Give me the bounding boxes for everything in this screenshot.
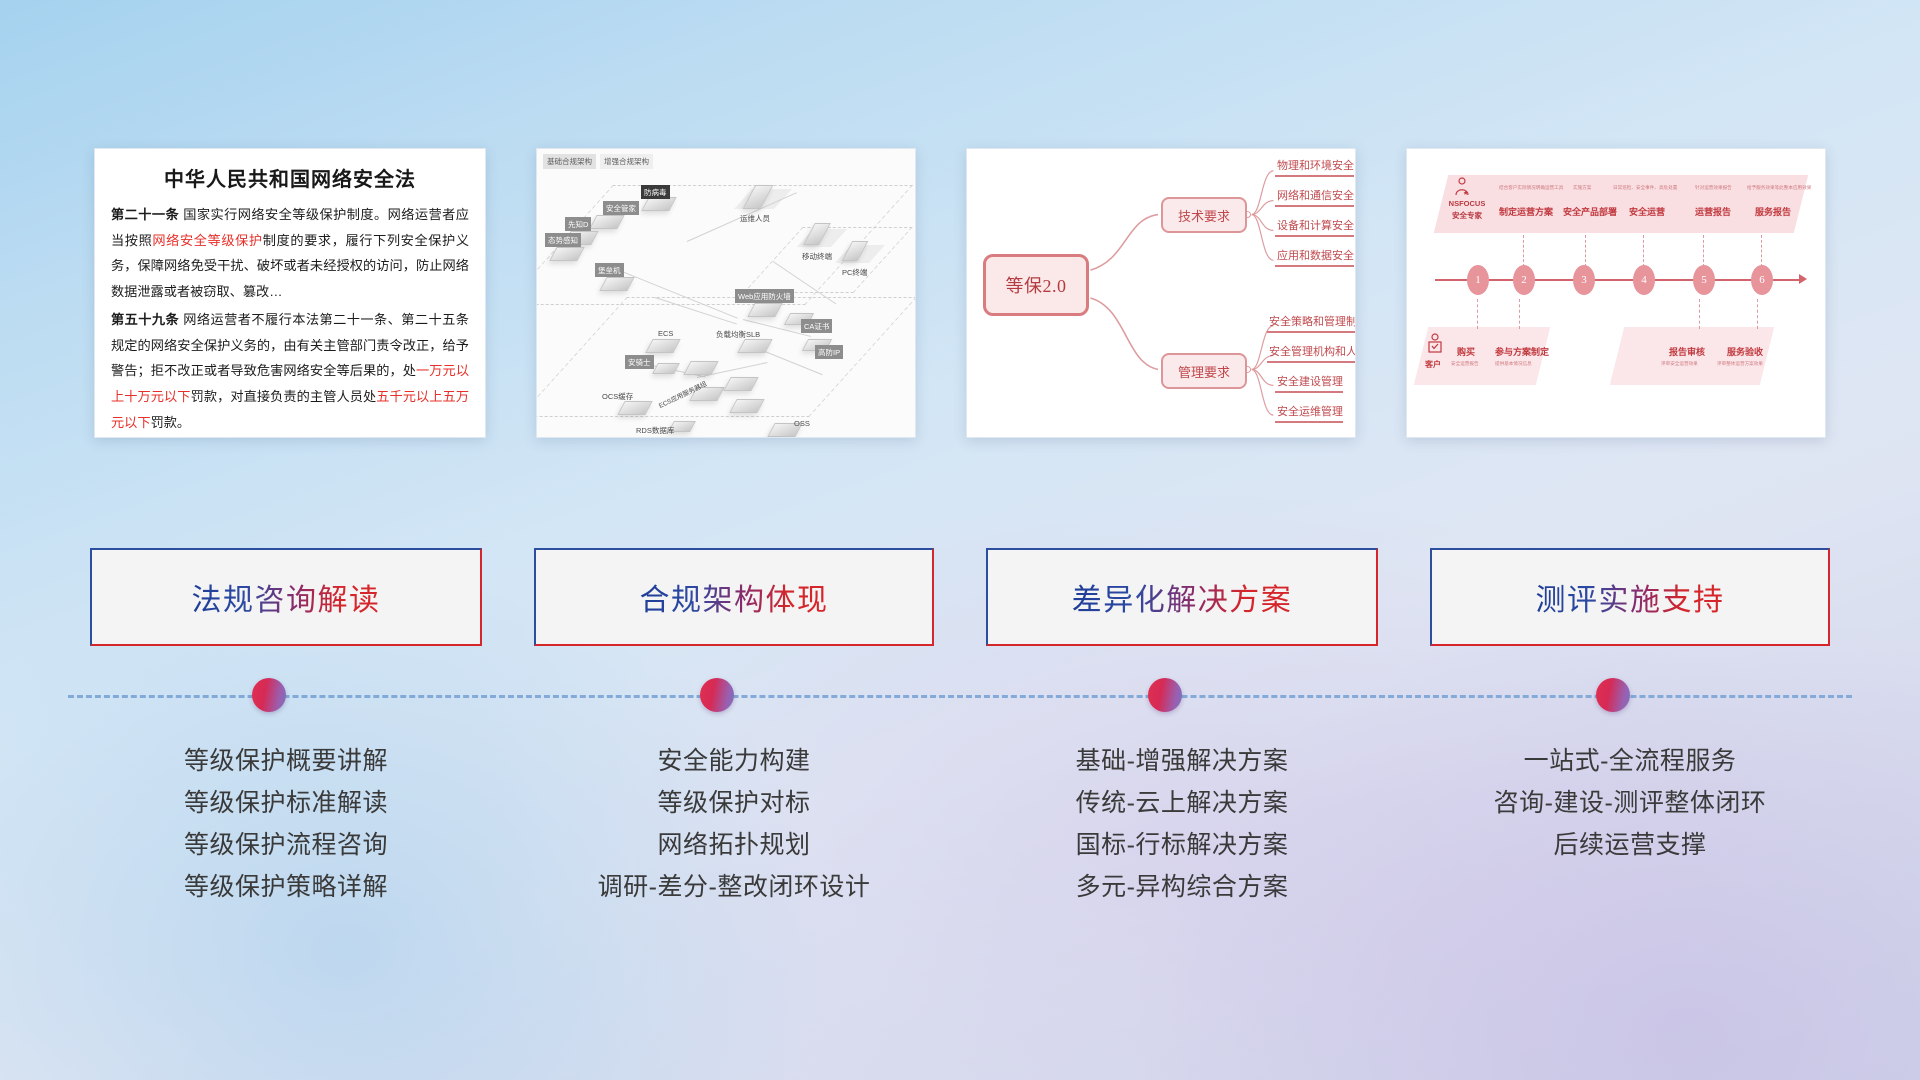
heading-box-row: 法规咨询解读 合规架构体现 差异化解决方案 测评实施支持 [0, 548, 1920, 646]
node-label-antivirus: 防病毒 [641, 185, 670, 199]
heading-box-differentiated-solution[interactable]: 差异化解决方案 [986, 548, 1378, 646]
mindmap: 等保2.0 技术要求 管理要求 物理和环境安全 网络和通信安全 设备和计算安全 … [967, 149, 1355, 437]
process-node-1: 1 [1467, 265, 1489, 295]
node-label-pc-terminal: PC终端 [839, 265, 870, 279]
service-list-row: 等级保护概要讲解 等级保护标准解读 等级保护流程咨询 等级保护策略详解 安全能力… [0, 740, 1920, 908]
article-59-text-c: 罚款。 [151, 415, 191, 430]
mindmap-leaf-app-data: 应用和数据安全 [1275, 247, 1354, 267]
card-dengbao-mindmap: 等保2.0 技术要求 管理要求 物理和环境安全 网络和通信安全 设备和计算安全 … [966, 148, 1356, 438]
law-title: 中华人民共和国网络安全法 [111, 163, 469, 192]
list-item: 网络拓扑规划 [534, 824, 934, 866]
list-item: 咨询-建设-测评整体闭环 [1430, 782, 1830, 824]
node-label-security-butler: 安全管家 [603, 201, 639, 215]
connector-dash [1643, 235, 1644, 267]
list-item: 传统-云上解决方案 [986, 782, 1378, 824]
tab-basic-architecture[interactable]: 基础合规架构 [543, 154, 596, 169]
service-list-solution: 基础-增强解决方案 传统-云上解决方案 国标-行标解决方案 多元-异构综合方案 [986, 740, 1378, 908]
connector-dash [1757, 299, 1758, 329]
law-article-21: 第二十一条 国家实行网络安全等级保护制度。网络运营者应当按照网络安全等级保护制度… [111, 202, 469, 305]
node-label-ca-cert: CA证书 [801, 319, 832, 333]
architecture-tabs: 基础合规架构 增强合规架构 [543, 154, 653, 169]
node-box-vpc [755, 437, 790, 438]
node-label-situation-awareness: 态势感知 [545, 233, 581, 247]
connector-dash [1761, 235, 1762, 267]
node-label-waf: Web应用防火墙 [735, 289, 794, 303]
list-item: 基础-增强解决方案 [986, 740, 1378, 782]
top-step-2-main: 制定运营方案 [1499, 205, 1553, 218]
node-label-ocs-cache: OCS缓存 [599, 389, 636, 403]
list-item: 等级保护概要讲解 [90, 740, 482, 782]
card-compliance-architecture: 基础合规架构 增强合规架构 防病毒 安全管家 先知D 态势感知 [536, 148, 916, 438]
list-item: 后续运营支撑 [1430, 824, 1830, 866]
bottom-step-2-sub: 提供基本情况信息 [1495, 361, 1532, 367]
node-box-db-audit [670, 437, 698, 438]
node-label-mobile-terminal: 移动终端 [799, 249, 835, 263]
bottom-step-1-main: 购买 [1457, 345, 1475, 358]
card-nsfocus-timeline: NSFOCUS 安全专家 结合客户实际情况明确运营工具 制定运营方案 实施方案 … [1406, 148, 1826, 438]
node-label-anqishi: 安骑士 [625, 355, 654, 369]
bottom-step-1-sub: 安全运营报告 [1451, 361, 1479, 367]
bottom-step-6-sub: 评审整体运营方案效果 [1717, 361, 1763, 367]
bottom-step-6-main: 服务验收 [1727, 345, 1763, 358]
process-node-5: 5 [1693, 265, 1715, 295]
card-cybersecurity-law: 中华人民共和国网络安全法 第二十一条 国家实行网络安全等级保护制度。网络运营者应… [94, 148, 486, 438]
top-step-5-sub: 针对运营效果报告 [1695, 185, 1732, 191]
process-axis [1435, 279, 1803, 281]
list-item: 等级保护标准解读 [90, 782, 482, 824]
mindmap-root-node: 等保2.0 [983, 254, 1089, 316]
article-21-highlight: 网络安全等级保护 [152, 233, 262, 248]
mindmap-leaf-org-personnel: 安全管理机构和人员 [1267, 343, 1356, 363]
tab-enhanced-architecture[interactable]: 增强合规架构 [600, 154, 653, 169]
service-list-assessment: 一站式-全流程服务 咨询-建设-测评整体闭环 后续运营支撑 [1430, 740, 1830, 908]
customer-person-icon [1427, 333, 1443, 355]
heading-box-regulation-consulting[interactable]: 法规咨询解读 [90, 548, 482, 646]
mindmap-leaf-device-compute: 设备和计算安全 [1275, 217, 1354, 237]
heading-box-assessment-support[interactable]: 测评实施支持 [1430, 548, 1830, 646]
process-node-4: 4 [1633, 265, 1655, 295]
process-node-2: 2 [1513, 265, 1535, 295]
mindmap-leaf-policy-system: 安全策略和管理制度 [1267, 313, 1356, 333]
node-label-bastion: 堡垒机 [595, 263, 624, 277]
timeline-dashed-line [68, 695, 1852, 698]
connector-dash [1703, 235, 1704, 267]
node-label-slb: 负载均衡SLB [713, 327, 763, 341]
mindmap-leaf-network-comm: 网络和通信安全 [1275, 187, 1354, 207]
node-label-rds: RDS数据库 [633, 423, 677, 437]
law-article-59: 第五十九条 网络运营者不履行本法第二十一条、第二十五条规定的网络安全保护义务的，… [111, 307, 469, 436]
connector-dash [1699, 299, 1700, 329]
axis-arrow-icon [1799, 274, 1807, 284]
node-label-ops-staff: 运维人员 [737, 211, 773, 225]
timeline-dot-4 [1596, 678, 1630, 712]
list-item: 安全能力构建 [534, 740, 934, 782]
top-step-6-sub: 给予服务效果等此整本应用效果 [1747, 185, 1811, 191]
zone-vpc [536, 297, 916, 417]
top-step-4-main: 安全运营 [1629, 205, 1665, 218]
top-step-5-main: 运营报告 [1695, 205, 1731, 218]
connector-dash [1585, 235, 1586, 267]
process-node-6: 6 [1751, 265, 1773, 295]
article-21-label: 第二十一条 [111, 207, 179, 222]
process-node-3: 3 [1573, 265, 1595, 295]
list-item: 一站式-全流程服务 [1430, 740, 1830, 782]
list-item: 多元-异构综合方案 [986, 866, 1378, 908]
architecture-diagram: 基础合规架构 增强合规架构 防病毒 安全管家 先知D 态势感知 [537, 149, 915, 437]
heading-box-compliance-architecture[interactable]: 合规架构体现 [534, 548, 934, 646]
nsfocus-process-diagram: NSFOCUS 安全专家 结合客户实际情况明确运营工具 制定运营方案 实施方案 … [1407, 149, 1825, 437]
expert-person-icon [1453, 177, 1471, 197]
article-59-label: 第五十九条 [111, 312, 179, 327]
top-step-4-sub: 日常巡检、安全事件、高危处置 [1613, 185, 1677, 191]
bottom-step-2-main: 参与方案制定 [1495, 345, 1549, 358]
mindmap-leaf-construction: 安全建设管理 [1275, 373, 1343, 393]
bottom-step-5-main: 报告审核 [1669, 345, 1705, 358]
timeline-dot-1 [252, 678, 286, 712]
mindmap-branch-technical: 技术要求 [1161, 197, 1247, 233]
list-item: 国标-行标解决方案 [986, 824, 1378, 866]
list-item: 调研-差分-整改闭环设计 [534, 866, 934, 908]
timeline-dot-2 [700, 678, 734, 712]
node-label-anti-ddos-ip: 高防IP [815, 345, 843, 359]
bottom-step-5-sub: 评审安全运营效果 [1661, 361, 1698, 367]
list-item: 等级保护流程咨询 [90, 824, 482, 866]
list-item: 等级保护对标 [534, 782, 934, 824]
node-label-ecs: ECS [655, 327, 676, 339]
customer-label: 客户 [1425, 359, 1441, 370]
mindmap-leaf-operations: 安全运维管理 [1275, 403, 1343, 423]
list-item: 等级保护策略详解 [90, 866, 482, 908]
article-59-text-b: 罚款，对直接负责的主管人员处 [191, 389, 377, 404]
heading-label-1: 法规咨询解读 [192, 575, 381, 619]
heading-label-4: 测评实施支持 [1536, 575, 1725, 619]
brand-nsfocus-line2: 安全专家 [1441, 211, 1493, 220]
node-label-xianzhi: 先知D [565, 217, 591, 231]
service-list-architecture: 安全能力构建 等级保护对标 网络拓扑规划 调研-差分-整改闭环设计 [534, 740, 934, 908]
connector-dash [1519, 299, 1520, 329]
top-step-3-sub: 实施方案 [1573, 185, 1591, 191]
connector-dash [1523, 235, 1524, 267]
top-step-6-main: 服务报告 [1755, 205, 1791, 218]
feature-card-row: 中华人民共和国网络安全法 第二十一条 国家实行网络安全等级保护制度。网络运营者应… [0, 148, 1920, 448]
connector-dash [1477, 299, 1478, 329]
mindmap-branch-management: 管理要求 [1161, 353, 1247, 389]
heading-label-3: 差异化解决方案 [1072, 575, 1293, 619]
timeline-dot-3 [1148, 678, 1182, 712]
brand-nsfocus-line1: NSFOCUS [1441, 199, 1493, 208]
top-step-3-main: 安全产品部署 [1563, 205, 1617, 218]
top-step-2-sub: 结合客户实际情况明确运营工具 [1499, 185, 1563, 191]
node-label-oss: OSS [791, 417, 813, 429]
service-list-regulation: 等级保护概要讲解 等级保护标准解读 等级保护流程咨询 等级保护策略详解 [90, 740, 482, 908]
heading-label-2: 合规架构体现 [640, 575, 829, 619]
mindmap-leaf-physical-env: 物理和环境安全 [1275, 157, 1354, 177]
